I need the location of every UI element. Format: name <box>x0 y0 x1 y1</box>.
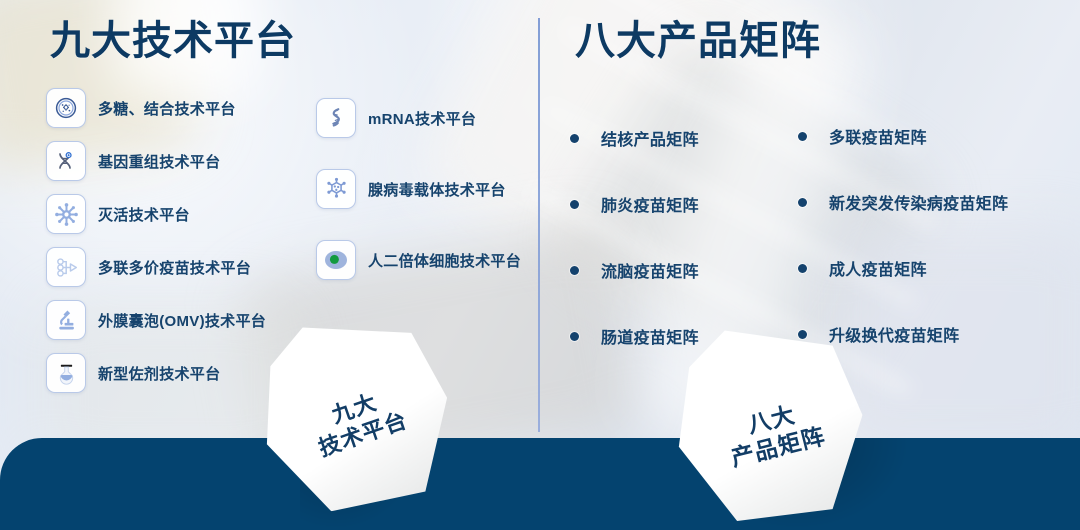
tech-platform-label: 灭活技术平台 <box>98 204 190 225</box>
tech-platform-label: 基因重组技术平台 <box>98 151 220 172</box>
tech-platform-item[interactable]: 多糖、结合技术平台 <box>46 88 266 128</box>
bacteria-cell-icon <box>46 88 86 128</box>
left-panel-title: 九大技术平台 <box>50 16 296 66</box>
tech-platform-item[interactable]: mRNA技术平台 <box>316 98 521 138</box>
tech-platform-column-1: 多糖、结合技术平台 基因重组技术平台 <box>46 88 266 406</box>
tech-platform-item[interactable]: 新型佐剂技术平台 <box>46 353 266 393</box>
tech-platform-item[interactable]: 外膜囊泡(OMV)技术平台 <box>46 300 266 340</box>
right-hexagon-badge: 八大 产品矩阵 <box>669 329 866 526</box>
right-panel-title: 八大产品矩阵 <box>575 16 821 66</box>
right-panel-header: 八大产品矩阵 <box>575 16 821 66</box>
product-matrix-item[interactable]: 新发突发传染病疫苗矩阵 <box>798 169 1008 235</box>
tech-platform-label: 外膜囊泡(OMV)技术平台 <box>98 310 266 331</box>
virus-inactivated-icon <box>46 194 86 234</box>
product-matrix-item[interactable]: 成人疫苗矩阵 <box>798 235 1008 301</box>
product-matrix-label: 肺炎疫苗矩阵 <box>601 192 699 216</box>
tech-platform-label: 多糖、结合技术平台 <box>98 98 236 119</box>
bullet-dot-icon <box>798 132 807 141</box>
tech-platform-item[interactable]: 基因重组技术平台 <box>46 141 266 181</box>
product-matrix-label: 新发突发传染病疫苗矩阵 <box>829 190 1008 214</box>
dna-recombination-icon <box>46 141 86 181</box>
adenovirus-vector-icon <box>316 169 356 209</box>
tech-platform-item[interactable]: 人二倍体细胞技术平台 <box>316 240 521 280</box>
tech-platform-label: 腺病毒载体技术平台 <box>368 179 506 200</box>
tech-platform-column-2: mRNA技术平台 <box>316 98 521 311</box>
slide-canvas: 九大技术平台 八大产品矩阵 <box>0 0 1080 530</box>
left-hexagon-badge: 九大 技术平台 <box>253 320 452 515</box>
bullet-dot-icon <box>570 332 579 341</box>
product-matrix-label: 多联疫苗矩阵 <box>829 124 927 148</box>
multivalent-vaccine-icon <box>46 247 86 287</box>
product-matrix-item[interactable]: 多联疫苗矩阵 <box>798 103 1008 169</box>
product-matrix-label: 结核产品矩阵 <box>601 126 699 150</box>
product-matrix-item[interactable]: 流脑疫苗矩阵 <box>570 237 699 303</box>
bullet-dot-icon <box>570 134 579 143</box>
product-matrix-label: 成人疫苗矩阵 <box>829 256 927 280</box>
left-panel-header: 九大技术平台 <box>50 16 296 66</box>
mrna-strand-icon <box>316 98 356 138</box>
tech-platform-label: 人二倍体细胞技术平台 <box>368 250 521 271</box>
tech-platform-item[interactable]: 腺病毒载体技术平台 <box>316 169 521 209</box>
tech-platform-label: mRNA技术平台 <box>368 108 476 129</box>
human-diploid-cell-icon <box>316 240 356 280</box>
flask-adjuvant-icon <box>46 353 86 393</box>
bullet-dot-icon <box>798 198 807 207</box>
tech-platform-item[interactable]: 多联多价疫苗技术平台 <box>46 247 266 287</box>
product-matrix-label: 流脑疫苗矩阵 <box>601 258 699 282</box>
bullet-dot-icon <box>570 200 579 209</box>
product-matrix-item[interactable]: 肺炎疫苗矩阵 <box>570 171 699 237</box>
bullet-dot-icon <box>570 266 579 275</box>
tech-platform-label: 新型佐剂技术平台 <box>98 363 220 384</box>
microscope-icon <box>46 300 86 340</box>
bullet-dot-icon <box>798 264 807 273</box>
tech-platform-item[interactable]: 灭活技术平台 <box>46 194 266 234</box>
vertical-divider <box>538 18 540 432</box>
product-matrix-item[interactable]: 结核产品矩阵 <box>570 105 699 171</box>
tech-platform-label: 多联多价疫苗技术平台 <box>98 257 251 278</box>
bottom-navy-band <box>0 438 1080 530</box>
